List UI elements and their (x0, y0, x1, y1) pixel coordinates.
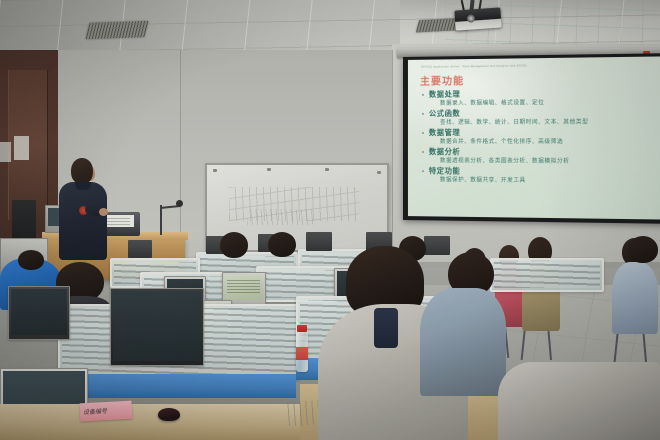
student-head (268, 232, 296, 257)
whiteboard-clip (213, 169, 217, 172)
computer-monitor-foreground (110, 288, 204, 366)
foreground-attendee-2 (420, 252, 510, 402)
attendee-inner-collar (374, 308, 398, 348)
instructor-hand (99, 208, 108, 216)
wall-notice-paper (14, 136, 29, 160)
projection-screen-frame: OFFICE Application Series - Data Managem… (403, 53, 660, 224)
bottle-label (296, 347, 308, 360)
attendee-arm-foreground (498, 362, 660, 440)
monitor-screen (225, 275, 263, 300)
slide-bullet-item: 公式函数 查找、逻辑、数学、统计、日期时间、文本、其他类型 (420, 108, 660, 127)
monitor-rear (128, 240, 152, 258)
whiteboard-writing (247, 209, 313, 225)
monitor-screen (11, 289, 67, 335)
microphone-stand (160, 205, 162, 235)
slide-bullet-item: 数据处理 数据录入、数据编辑、格式设置、定位 (420, 88, 660, 108)
student-head (220, 232, 248, 258)
bottle-cap (297, 325, 307, 332)
cubicle-blue-panel (58, 374, 296, 398)
computer-mouse (158, 408, 180, 421)
ceiling-vent-icon (86, 21, 149, 39)
student-head (628, 236, 658, 263)
monitor-content (227, 278, 260, 293)
student-person (268, 232, 298, 266)
slide-bullet-sub: 数据录入、数据编辑、格式设置、定位 (420, 98, 660, 108)
projector-lens-icon (467, 14, 476, 23)
person-torso (612, 262, 658, 334)
slide-bullet-item: 数据分析 数据透视表分析、各类图表分析、数据模拟分析 (420, 147, 660, 166)
ceiling-projector (454, 7, 501, 30)
slide-title: 主要功能 (420, 72, 464, 88)
slide-bullet-list: 数据处理 数据录入、数据编辑、格式设置、定位 公式函数 查找、逻辑、数学、统计、… (420, 88, 660, 187)
slide-bullet-sub: 数据透视表分析、各类图表分析、数据模拟分析 (420, 157, 660, 167)
instructor-head (71, 158, 93, 184)
student-head (18, 250, 44, 270)
student-person (220, 232, 250, 266)
classroom-photo: OFFICE Application Series - Data Managem… (0, 0, 660, 440)
desk-surface (0, 404, 300, 440)
student-person (628, 236, 660, 272)
attendee-torso (420, 288, 506, 396)
projection-screen: OFFICE Application Series - Data Managem… (408, 56, 660, 219)
whiteboard-clip (377, 171, 381, 174)
wall-notice-paper (0, 142, 11, 162)
slide-bullet-item: 数据管理 数据合并、条件格式、个性化排序、高级筛选 (420, 128, 660, 147)
slide-bullet-sub: 数据合并、条件格式、个性化排序、高级筛选 (420, 137, 660, 146)
whiteboard-clip (267, 168, 271, 171)
instructor-torso (59, 182, 107, 260)
desk-equipment-label-text: 设备编号 (80, 401, 133, 421)
slide-bullet-item: 特定功能 数据保护、数据共享、开发工具 (420, 166, 660, 186)
instructor-collar (75, 182, 91, 190)
desk-equipment-label: 设备编号 (80, 401, 133, 422)
computer-monitor-rear (8, 286, 70, 340)
microphone-icon (176, 200, 183, 207)
monitor-screen (113, 291, 201, 361)
whiteboard-clip (325, 168, 329, 171)
slide-bullet-sub: 查找、逻辑、数学、统计、日期时间、文本、其他类型 (420, 118, 660, 127)
slide-bullet-heading: 数据管理 (420, 128, 660, 138)
slide-bullet-sub: 数据保护、数据共享、开发工具 (420, 176, 660, 186)
